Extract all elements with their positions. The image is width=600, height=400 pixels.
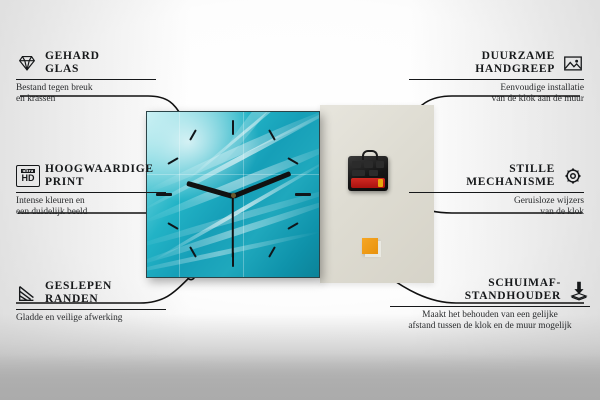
stacked-arrow-down-icon (568, 279, 590, 301)
callout-title: GEHARD GLAS (45, 50, 100, 76)
callout-title: DUURZAME HANDGREEP (475, 50, 555, 76)
product-infographic: GEHARD GLAS Bestand tegen breuk en krass… (0, 0, 600, 400)
callout-hd-print: ultra HD HOOGWAARDIGE PRINT Intense kleu… (16, 163, 166, 218)
callout-rule (409, 79, 584, 80)
callout-body: Intense kleuren en een duidelijk beeld (16, 196, 166, 218)
foam-spacer (362, 238, 378, 254)
callout-foam-spacer: SCHUIMAF- STANDHOUDER Maakt het behouden… (390, 277, 590, 332)
callout-rule (16, 309, 166, 310)
picture-frame-icon (562, 52, 584, 74)
mechanism-hanger-lug (362, 150, 378, 160)
callout-title: SCHUIMAF- STANDHOUDER (465, 277, 561, 303)
ultra-hd-icon: ultra HD (16, 165, 38, 187)
clock-mechanism (348, 156, 388, 191)
callout-title: GESLEPEN RANDEN (45, 280, 112, 306)
mechanism-battery (351, 178, 385, 188)
callout-rule (409, 192, 584, 193)
callout-body: Eenvoudige installatie van de klok aan d… (409, 83, 584, 105)
gear-icon (562, 165, 584, 187)
diamond-icon (16, 52, 38, 74)
callout-rule (16, 192, 166, 193)
callout-rule (390, 306, 590, 307)
callout-body: Gladde en veilige afwerking (16, 313, 166, 324)
clock-tick-3 (295, 193, 311, 196)
clock-tick-12 (232, 120, 234, 135)
clock-center-pin (231, 193, 236, 198)
callout-body: Bestand tegen breuk en krassen (16, 83, 156, 105)
callout-title: STILLE MECHANISME (466, 163, 555, 189)
callout-durable-hanger: DUURZAME HANDGREEP Eenvoudige installati… (409, 50, 584, 105)
callout-ground-edges: GESLEPEN RANDEN Gladde en veilige afwerk… (16, 280, 166, 324)
product-photo (146, 105, 434, 287)
callout-body: Geruisloze wijzers van de klok (409, 196, 584, 218)
callout-rule (16, 79, 156, 80)
wall-clock (146, 111, 320, 278)
callout-silent-mechanism: STILLE MECHANISME Geruisloze wijzers van… (409, 163, 584, 218)
clock-second-hand (232, 196, 234, 258)
callout-tempered-glass: GEHARD GLAS Bestand tegen breuk en krass… (16, 50, 156, 105)
floor-gradient-lower (0, 354, 600, 400)
ground-edges-icon (16, 282, 38, 304)
callout-body: Maakt het behouden van een gelijke afsta… (390, 310, 590, 332)
callout-title: HOOGWAARDIGE PRINT (45, 163, 154, 189)
